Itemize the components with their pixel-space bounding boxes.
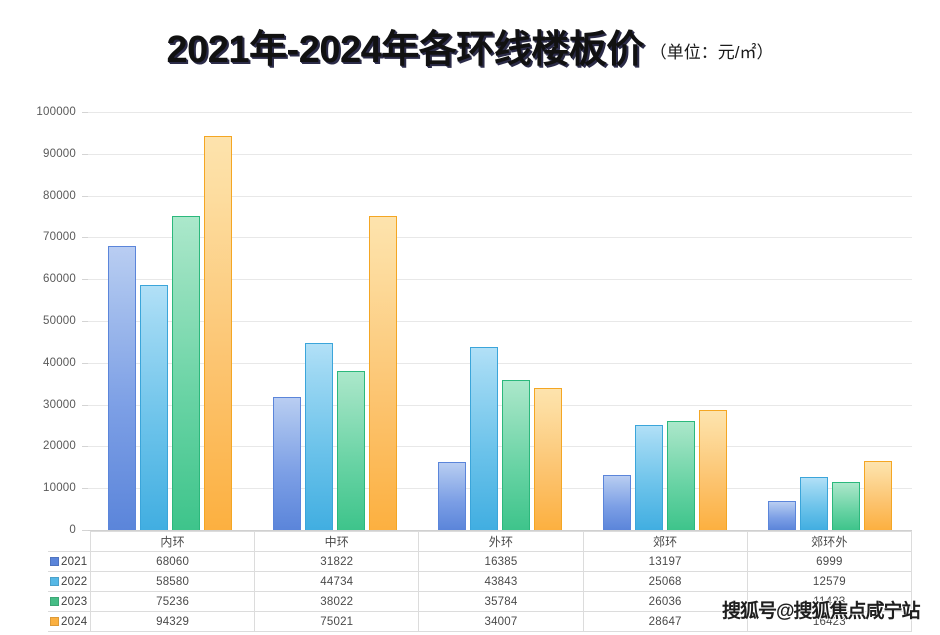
table-cell: 38022 xyxy=(255,592,419,612)
bar[interactable] xyxy=(337,371,365,530)
table-cell: 43843 xyxy=(419,572,583,592)
bar[interactable] xyxy=(273,397,301,530)
chart-title-area: 2021年-2024年各环线楼板价（单位：元/㎡） xyxy=(0,18,940,73)
y-axis-tick-label: 60000 xyxy=(43,273,76,285)
legend-swatch-2021-icon xyxy=(50,557,59,566)
table-cell: 44734 xyxy=(255,572,419,592)
bar[interactable] xyxy=(667,421,695,530)
table-column-header: 郊环 xyxy=(583,532,747,552)
table-row: 2021680603182216385131976999 xyxy=(48,552,912,572)
data-table-head: 内环中环外环郊环郊环外 xyxy=(48,532,912,552)
bar[interactable] xyxy=(502,380,530,530)
bar[interactable] xyxy=(470,347,498,530)
legend-entry[interactable]: 2022 xyxy=(48,572,91,592)
bar[interactable] xyxy=(699,410,727,530)
table-column-header: 郊环外 xyxy=(747,532,911,552)
table-cell: 35784 xyxy=(419,592,583,612)
bar-group xyxy=(88,112,253,530)
table-corner-cell xyxy=(48,532,91,552)
bar[interactable] xyxy=(534,388,562,530)
table-cell: 12579 xyxy=(747,572,911,592)
legend-series-label: 2021 xyxy=(61,556,87,568)
bar-group xyxy=(747,112,912,530)
bar[interactable] xyxy=(635,425,663,530)
bar[interactable] xyxy=(768,501,796,530)
y-axis-tick-label: 70000 xyxy=(43,231,76,243)
table-column-header: 中环 xyxy=(255,532,419,552)
bar[interactable] xyxy=(832,482,860,530)
table-cell: 75236 xyxy=(91,592,255,612)
table-cell: 75021 xyxy=(255,612,419,632)
legend-swatch-2022-icon xyxy=(50,577,59,586)
bar[interactable] xyxy=(172,216,200,531)
bar[interactable] xyxy=(800,477,828,530)
bar[interactable] xyxy=(864,461,892,530)
legend-entry[interactable]: 2023 xyxy=(48,592,91,612)
table-cell: 13197 xyxy=(583,552,747,572)
bar[interactable] xyxy=(438,462,466,531)
table-cell: 31822 xyxy=(255,552,419,572)
y-axis-tick-label: 100000 xyxy=(36,106,76,118)
table-column-header: 内环 xyxy=(91,532,255,552)
table-cell: 94329 xyxy=(91,612,255,632)
table-cell: 6999 xyxy=(747,552,911,572)
y-axis-tick-label: 20000 xyxy=(43,440,76,452)
table-column-header: 外环 xyxy=(419,532,583,552)
table-cell: 25068 xyxy=(583,572,747,592)
bar[interactable] xyxy=(140,285,168,530)
legend-swatch-2023-icon xyxy=(50,597,59,606)
table-cell: 34007 xyxy=(419,612,583,632)
chart-subtitle-unit: （单位：元/㎡） xyxy=(650,43,774,62)
legend-series-label: 2023 xyxy=(61,596,87,608)
legend-entry[interactable]: 2024 xyxy=(48,612,91,632)
y-axis-tick-label: 80000 xyxy=(43,190,76,202)
legend-series-label: 2022 xyxy=(61,576,87,588)
y-axis-tick-label: 90000 xyxy=(43,148,76,160)
table-cell: 68060 xyxy=(91,552,255,572)
legend-series-label: 2024 xyxy=(61,616,87,628)
bar-group xyxy=(253,112,418,530)
bar[interactable] xyxy=(603,475,631,530)
table-cell: 58580 xyxy=(91,572,255,592)
y-axis-tick-label: 40000 xyxy=(43,357,76,369)
bar[interactable] xyxy=(108,246,136,531)
y-axis: 1000009000080000700006000050000400003000… xyxy=(0,112,84,534)
bar-group xyxy=(582,112,747,530)
legend-swatch-2024-icon xyxy=(50,617,59,626)
y-axis-tick-label: 50000 xyxy=(43,315,76,327)
legend-entry[interactable]: 2021 xyxy=(48,552,91,572)
bar[interactable] xyxy=(369,216,397,530)
watermark: 搜狐号@搜狐焦点咸宁站 xyxy=(722,596,920,623)
bar[interactable] xyxy=(305,343,333,530)
chart-container: 2021年-2024年各环线楼板价（单位：元/㎡） 10000090000800… xyxy=(0,0,940,635)
table-header-row: 内环中环外环郊环郊环外 xyxy=(48,532,912,552)
plot-area: 1000009000080000700006000050000400003000… xyxy=(0,112,940,534)
table-row: 20225858044734438432506812579 xyxy=(48,572,912,592)
bar-groups xyxy=(88,112,912,530)
chart-title: 2021年-2024年各环线楼板价 xyxy=(167,29,644,71)
bar-group xyxy=(418,112,583,530)
y-axis-tick-label: 10000 xyxy=(43,482,76,494)
table-cell: 16385 xyxy=(419,552,583,572)
bar[interactable] xyxy=(204,136,232,530)
y-axis-tick-label: 30000 xyxy=(43,399,76,411)
